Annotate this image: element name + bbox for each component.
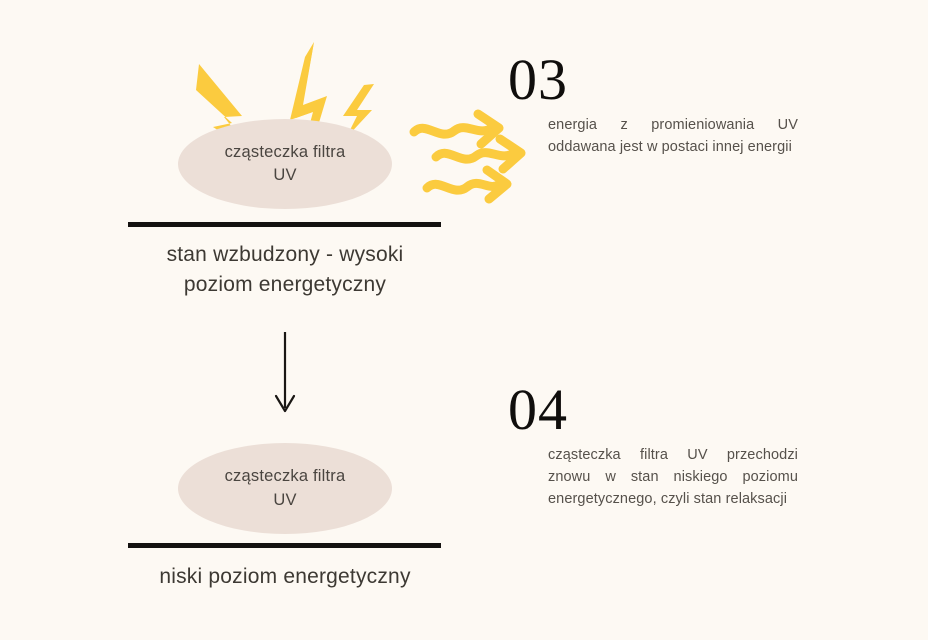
step-description-03: energia z promieniowania UV oddawana jes… bbox=[548, 114, 798, 158]
step-number-03: 03 bbox=[508, 52, 808, 107]
ground-energy-level-bar bbox=[128, 543, 441, 548]
down-arrow-icon bbox=[276, 332, 294, 411]
excited-state-molecule-ellipse: cząsteczka filtra UV bbox=[178, 119, 392, 209]
step-block-03: 03 energia z promieniowania UV oddawana … bbox=[508, 52, 808, 158]
step-block-04: 04 cząsteczka filtra UV przechodzi znowu… bbox=[508, 382, 808, 510]
ground-state-molecule-ellipse: cząsteczka filtra UV bbox=[178, 443, 392, 534]
excited-energy-level-bar bbox=[128, 222, 441, 227]
wavy-arrow-icon bbox=[414, 114, 499, 144]
wavy-arrow-icon bbox=[427, 170, 507, 199]
diagram-canvas: cząsteczka filtra UV stan wzbudzony - wy… bbox=[0, 0, 928, 640]
excited-state-molecule-label: cząsteczka filtra UV bbox=[225, 141, 346, 188]
ground-state-molecule-label: cząsteczka filtra UV bbox=[225, 465, 346, 512]
step-number-04: 04 bbox=[508, 382, 808, 437]
step-description-04: cząsteczka filtra UV przechodzi znowu w … bbox=[548, 444, 798, 510]
ground-energy-level-caption: niski poziom energetyczny bbox=[105, 562, 465, 592]
excited-energy-level-caption: stan wzbudzony - wysoki poziom energetyc… bbox=[105, 240, 465, 300]
